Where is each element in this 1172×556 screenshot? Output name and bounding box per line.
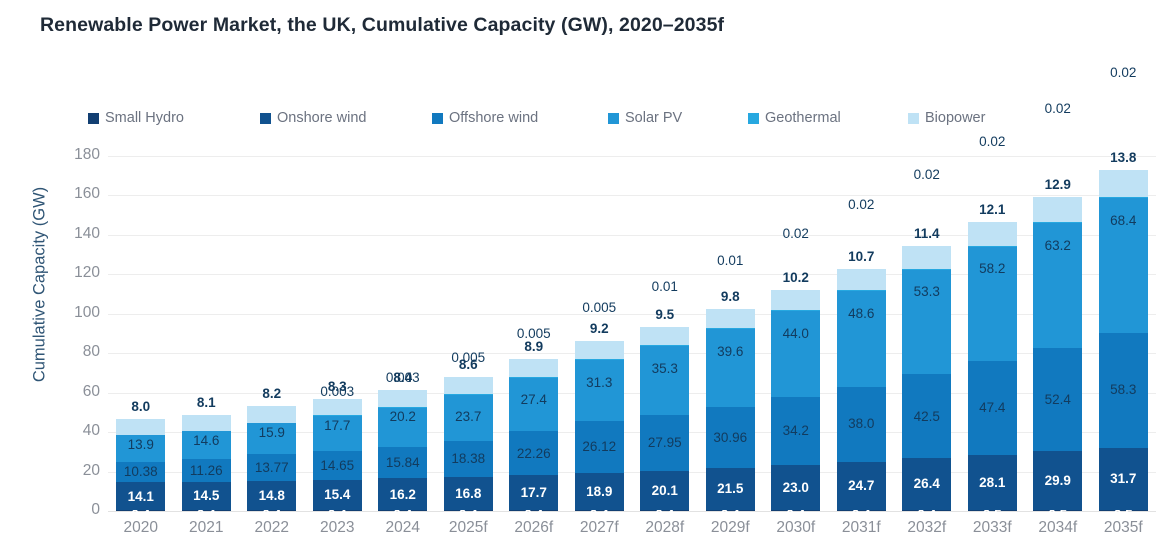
bar-segment-onshore-wind[interactable]: 20.1	[640, 471, 689, 511]
bar-segment-onshore-wind[interactable]: 14.8	[247, 481, 296, 510]
bar-segment-offshore-wind[interactable]: 42.5	[902, 374, 951, 458]
plot-area: 020406080100120140160180 0.414.110.3813.…	[108, 156, 1156, 511]
bar-value-label: 24.7	[848, 479, 874, 493]
bar-value-label: 15.4	[324, 488, 350, 502]
x-axis-labels: 202020212022202320242025f2026f2027f2028f…	[108, 519, 1156, 537]
bar-value-label: 20.2	[390, 410, 416, 424]
y-axis-tick-label: 60	[54, 383, 100, 401]
bar-value-label: 30.96	[713, 431, 747, 445]
bar-stack: 0.416.215.8420.20.0038.4	[378, 390, 427, 511]
legend-item-label: Solar PV	[625, 110, 682, 126]
bar-segment-small-hydro[interactable]: 0.4	[116, 510, 165, 511]
bar-segment-small-hydro[interactable]: 0.4	[771, 510, 820, 511]
bar-segment-geothermal[interactable]: 0.005	[575, 359, 624, 360]
bar-segment-small-hydro[interactable]: 0.5	[1033, 510, 1082, 511]
bar-value-label: 42.5	[914, 410, 940, 424]
bar-segment-solar-pv[interactable]: 63.2	[1033, 223, 1082, 348]
bar-value-label: 9.8	[721, 290, 740, 304]
bar-value-label: 27.4	[521, 393, 547, 407]
bar-segment-solar-pv[interactable]: 53.3	[902, 269, 951, 374]
x-axis-tick-label: 2028f	[632, 519, 698, 537]
legend-item-biopower[interactable]: Biopower	[908, 110, 985, 126]
bar-value-label: 9.2	[590, 322, 609, 336]
legend-item-onshore-wind[interactable]: Onshore wind	[260, 110, 366, 126]
bar-value-label: 21.5	[717, 482, 743, 496]
x-axis-tick-label: 2027f	[567, 519, 633, 537]
bar-segment-offshore-wind[interactable]: 26.12	[575, 421, 624, 473]
bar-segment-onshore-wind[interactable]: 16.8	[444, 477, 493, 510]
bar-value-label: 58.2	[979, 262, 1005, 276]
bar-value-label: 58.3	[1110, 383, 1136, 397]
bar-stack: 0.528.147.458.20.0212.1	[968, 222, 1017, 511]
bar-segment-offshore-wind[interactable]: 47.4	[968, 361, 1017, 454]
x-axis-tick-label: 2023	[305, 519, 371, 537]
bar-segment-geothermal[interactable]: 0.02	[837, 290, 886, 291]
bar-segment-small-hydro[interactable]: 0.4	[837, 510, 886, 511]
bar-value-label: 0.02	[848, 198, 874, 212]
bar-value-label: 10.2	[783, 271, 809, 285]
bar-segment-onshore-wind[interactable]: 29.9	[1033, 451, 1082, 510]
bar-value-label: 14.1	[128, 490, 154, 504]
bar-stack: 0.415.414.6517.70.0038.3	[313, 399, 362, 511]
bar-segment-offshore-wind[interactable]: 15.84	[378, 447, 427, 478]
legend-swatch-icon	[608, 113, 619, 124]
x-axis-tick-label: 2025f	[436, 519, 502, 537]
bar-segment-geothermal[interactable]: 0.02	[1033, 222, 1082, 223]
bar-stack: 0.421.530.9639.60.019.8	[706, 309, 755, 511]
bar-segment-onshore-wind[interactable]: 31.7	[1099, 448, 1148, 511]
bar-segment-biopower[interactable]: 8.6	[444, 377, 493, 394]
bar-value-label: 14.8	[259, 489, 285, 503]
x-axis-tick-label: 2021	[174, 519, 240, 537]
bar-segment-biopower[interactable]: 8.3	[313, 399, 362, 415]
bar-segment-solar-pv[interactable]: 39.6	[706, 329, 755, 407]
bar-segment-geothermal[interactable]: 0.01	[640, 345, 689, 346]
y-axis-tick-label: 180	[54, 146, 100, 164]
bar-segment-small-hydro[interactable]: 0.5	[968, 510, 1017, 511]
bar-value-label: 0.02	[783, 227, 809, 241]
bar-segment-onshore-wind[interactable]: 28.1	[968, 455, 1017, 510]
bar-segment-solar-pv[interactable]: 23.7	[444, 394, 493, 441]
bar-stack: 0.417.722.2627.40.0058.9	[509, 359, 558, 511]
bar-segment-offshore-wind[interactable]: 18.38	[444, 441, 493, 477]
y-axis-title: Cumulative Capacity (GW)	[31, 135, 50, 435]
bar-value-label: 13.8	[1110, 151, 1136, 165]
bar-segment-offshore-wind[interactable]: 34.2	[771, 397, 820, 464]
bar-value-label: 17.7	[324, 419, 350, 433]
bar-segment-biopower[interactable]: 8.9	[509, 359, 558, 377]
bar-value-label: 52.4	[1045, 393, 1071, 407]
bar-value-label: 0.01	[717, 254, 743, 268]
bar-segment-solar-pv[interactable]: 14.6	[182, 431, 231, 460]
x-axis-tick-label: 2031f	[829, 519, 895, 537]
bar-column[interactable]: 0.529.952.463.20.0212.9	[1025, 156, 1091, 511]
bar-segment-solar-pv[interactable]: 68.4	[1099, 198, 1148, 333]
bar-segment-solar-pv[interactable]: 27.4	[509, 377, 558, 431]
chart-legend: Small HydroOnshore windOffshore windSola…	[88, 106, 1088, 130]
y-axis-tick-label: 80	[54, 343, 100, 361]
bar-stack: 0.423.034.244.00.0210.2	[771, 290, 820, 511]
bar-segment-offshore-wind[interactable]: 30.96	[706, 407, 755, 468]
bar-series-group: 0.414.110.3813.98.00.414.511.2614.68.10.…	[108, 156, 1156, 511]
bar-value-label: 29.9	[1045, 474, 1071, 488]
bar-value-label: 8.9	[524, 340, 543, 354]
bar-segment-solar-pv[interactable]: 20.2	[378, 407, 427, 447]
bar-value-label: 39.6	[717, 345, 743, 359]
bar-segment-small-hydro[interactable]: 0.4	[509, 510, 558, 511]
bar-value-label: 9.5	[655, 308, 674, 322]
bar-value-label: 53.3	[914, 285, 940, 299]
bar-value-label: 20.1	[652, 484, 678, 498]
bar-value-label: 12.1	[979, 203, 1005, 217]
x-axis-tick-label: 2020	[108, 519, 174, 537]
bar-value-label: 11.4	[914, 227, 940, 241]
bar-column[interactable]: 0.414.110.3813.98.0	[108, 156, 174, 511]
bar-segment-onshore-wind[interactable]: 23.0	[771, 465, 820, 510]
bar-value-label: 14.65	[320, 459, 354, 473]
bar-segment-geothermal[interactable]: 0.02	[968, 246, 1017, 247]
legend-item-label: Onshore wind	[277, 110, 366, 126]
bar-segment-offshore-wind[interactable]: 13.77	[247, 454, 296, 481]
bar-segment-biopower[interactable]: 8.0	[116, 419, 165, 435]
bar-segment-onshore-wind[interactable]: 15.4	[313, 480, 362, 510]
x-axis-tick-label: 2035f	[1091, 519, 1157, 537]
bar-value-label: 27.95	[648, 436, 682, 450]
bar-segment-solar-pv[interactable]: 44.0	[771, 311, 820, 398]
y-axis-tick-label: 120	[54, 264, 100, 282]
bar-value-label: 68.4	[1110, 214, 1136, 228]
y-axis-tick-label: 160	[54, 185, 100, 203]
y-axis-tick-label: 140	[54, 225, 100, 243]
bar-column[interactable]: 0.415.414.6517.70.0038.3	[305, 156, 371, 511]
bar-value-label: 0.01	[652, 280, 678, 294]
bar-column[interactable]: 0.421.530.9639.60.019.8	[698, 156, 764, 511]
bar-value-label: 38.0	[848, 417, 874, 431]
legend-item-label: Small Hydro	[105, 110, 184, 126]
bar-stack: 0.418.926.1231.30.0059.2	[575, 341, 624, 511]
bar-column[interactable]: 0.426.442.553.30.0211.4	[894, 156, 960, 511]
bar-value-label: 15.9	[259, 426, 285, 440]
bar-value-label: 23.7	[455, 410, 481, 424]
bar-segment-small-hydro[interactable]: 0.4	[444, 510, 493, 511]
bar-segment-small-hydro[interactable]: 0.4	[640, 510, 689, 511]
bar-value-label: 8.6	[459, 358, 478, 372]
bar-segment-onshore-wind[interactable]: 14.1	[116, 482, 165, 510]
bar-value-label: 63.2	[1045, 239, 1071, 253]
bar-segment-solar-pv[interactable]: 58.2	[968, 246, 1017, 361]
bar-value-label: 0.005	[582, 301, 616, 315]
legend-swatch-icon	[432, 113, 443, 124]
bar-column[interactable]: 0.416.818.3823.70.0058.6	[436, 156, 502, 511]
bar-segment-biopower[interactable]: 9.2	[575, 341, 624, 359]
bar-value-label: 12.9	[1045, 178, 1071, 192]
bar-column[interactable]: 0.531.758.368.40.0213.8	[1091, 156, 1157, 511]
x-axis-tick-label: 2033f	[960, 519, 1026, 537]
bar-value-label: 23.0	[783, 481, 809, 495]
bar-segment-solar-pv[interactable]: 31.3	[575, 360, 624, 422]
bar-segment-small-hydro[interactable]: 0.5	[1099, 510, 1148, 511]
bar-segment-onshore-wind[interactable]: 24.7	[837, 462, 886, 511]
bar-value-label: 10.7	[848, 250, 874, 264]
legend-item-label: Biopower	[925, 110, 985, 126]
bar-value-label: 8.2	[262, 387, 281, 401]
bar-value-label: 10.38	[124, 465, 158, 479]
bar-value-label: 17.7	[521, 486, 547, 500]
bar-value-label: 18.9	[586, 485, 612, 499]
bar-segment-geothermal[interactable]: 0.02	[902, 269, 951, 270]
x-axis-tick-label: 2032f	[894, 519, 960, 537]
bar-stack: 0.414.813.7715.98.2	[247, 406, 296, 511]
bar-segment-onshore-wind[interactable]: 21.5	[706, 468, 755, 510]
bar-value-label: 16.2	[390, 488, 416, 502]
bar-column[interactable]: 0.424.738.048.60.0210.7	[829, 156, 895, 511]
y-axis-tick-label: 20	[54, 462, 100, 480]
bar-stack: 0.426.442.553.30.0211.4	[902, 246, 951, 511]
bar-segment-geothermal[interactable]: 0.02	[1099, 197, 1148, 198]
bar-stack: 0.416.818.3823.70.0058.6	[444, 377, 493, 511]
bar-segment-biopower[interactable]: 11.4	[902, 246, 951, 268]
bar-stack: 0.420.127.9535.30.019.5	[640, 327, 689, 511]
bar-segment-offshore-wind[interactable]: 11.26	[182, 459, 231, 481]
bar-stack: 0.531.758.368.40.0213.8	[1099, 170, 1148, 511]
bar-segment-solar-pv[interactable]: 13.9	[116, 435, 165, 462]
bar-value-label: 18.38	[451, 452, 485, 466]
bar-segment-onshore-wind[interactable]: 17.7	[509, 475, 558, 510]
bar-value-label: 0.02	[914, 168, 940, 182]
bar-segment-geothermal[interactable]: 0.01	[706, 328, 755, 329]
bar-segment-onshore-wind[interactable]: 18.9	[575, 473, 624, 510]
bar-segment-biopower[interactable]: 8.2	[247, 406, 296, 422]
bar-segment-small-hydro[interactable]: 0.4	[182, 510, 231, 511]
y-axis-tick-label: 40	[54, 422, 100, 440]
bar-segment-biopower[interactable]: 8.1	[182, 415, 231, 431]
bar-segment-geothermal[interactable]: 0.003	[378, 407, 427, 408]
bar-value-label: 26.4	[914, 477, 940, 491]
bar-value-label: 22.26	[517, 447, 551, 461]
bar-segment-small-hydro[interactable]: 0.4	[378, 510, 427, 511]
x-axis-tick-label: 2034f	[1025, 519, 1091, 537]
bar-column[interactable]: 0.416.215.8420.20.0038.4	[370, 156, 436, 511]
bar-value-label: 13.77	[255, 461, 289, 475]
bar-segment-offshore-wind[interactable]: 58.3	[1099, 333, 1148, 448]
x-axis-tick-label: 2029f	[698, 519, 764, 537]
bar-segment-small-hydro[interactable]: 0.4	[313, 510, 362, 511]
bar-segment-biopower[interactable]: 8.4	[378, 390, 427, 407]
bar-value-label: 15.84	[386, 456, 420, 470]
bar-segment-biopower[interactable]: 10.2	[771, 290, 820, 310]
bar-segment-geothermal[interactable]: 0.003	[313, 415, 362, 416]
bar-column[interactable]: 0.418.926.1231.30.0059.2	[567, 156, 633, 511]
chart-container: Renewable Power Market, the UK, Cumulati…	[0, 0, 1172, 556]
bar-segment-small-hydro[interactable]: 0.4	[706, 510, 755, 511]
bar-value-label: 0.02	[1045, 102, 1071, 116]
bar-segment-offshore-wind[interactable]: 14.65	[313, 451, 362, 480]
x-axis-tick-label: 2030f	[763, 519, 829, 537]
x-axis-tick-label: 2024	[370, 519, 436, 537]
bar-segment-offshore-wind[interactable]: 52.4	[1033, 348, 1082, 451]
bar-value-label: 8.1	[197, 396, 216, 410]
legend-swatch-icon	[88, 113, 99, 124]
bar-column[interactable]: 0.417.722.2627.40.0058.9	[501, 156, 567, 511]
bar-segment-offshore-wind[interactable]: 22.26	[509, 431, 558, 475]
bar-value-label: 14.6	[193, 434, 219, 448]
bar-value-label: 26.12	[582, 440, 616, 454]
bar-value-label: 34.2	[783, 424, 809, 438]
bar-segment-offshore-wind[interactable]: 27.95	[640, 415, 689, 470]
bar-segment-biopower[interactable]: 9.5	[640, 327, 689, 346]
bar-value-label: 35.3	[652, 362, 678, 376]
bar-value-label: 8.0	[131, 400, 150, 414]
legend-swatch-icon	[748, 113, 759, 124]
bar-value-label: 8.3	[328, 380, 347, 394]
bar-value-label: 11.26	[190, 464, 223, 478]
bar-segment-small-hydro[interactable]: 0.4	[247, 510, 296, 511]
bar-stack: 0.414.110.3813.98.0	[116, 419, 165, 511]
bar-value-label: 13.9	[128, 438, 154, 452]
bar-segment-offshore-wind[interactable]: 38.0	[837, 387, 886, 462]
bar-column[interactable]: 0.414.813.7715.98.2	[239, 156, 305, 511]
bar-value-label: 31.3	[586, 376, 612, 390]
y-axis-tick-label: 0	[54, 501, 100, 519]
bar-value-label: 0.02	[1110, 66, 1136, 80]
bar-segment-biopower[interactable]: 9.8	[706, 309, 755, 328]
bar-segment-biopower[interactable]: 13.8	[1099, 170, 1148, 197]
bar-segment-solar-pv[interactable]: 35.3	[640, 346, 689, 416]
bar-column[interactable]: 0.528.147.458.20.0212.1	[960, 156, 1026, 511]
x-axis-tick-label: 2026f	[501, 519, 567, 537]
bar-value-label: 44.0	[783, 327, 809, 341]
x-axis-tick-label: 2022	[239, 519, 305, 537]
bar-value-label: 0.005	[517, 327, 551, 341]
bar-segment-biopower[interactable]: 12.9	[1033, 197, 1082, 222]
bar-stack: 0.529.952.463.20.0212.9	[1033, 197, 1082, 511]
bar-segment-solar-pv[interactable]: 17.7	[313, 416, 362, 451]
bar-segment-biopower[interactable]: 12.1	[968, 222, 1017, 246]
bar-column[interactable]: 0.414.511.2614.68.1	[174, 156, 240, 511]
chart-title: Renewable Power Market, the UK, Cumulati…	[40, 14, 724, 37]
legend-swatch-icon	[908, 113, 919, 124]
legend-item-label: Offshore wind	[449, 110, 538, 126]
y-axis-tick-label: 100	[54, 304, 100, 322]
legend-swatch-icon	[260, 113, 271, 124]
bar-column[interactable]: 0.420.127.9535.30.019.5	[632, 156, 698, 511]
bar-value-label: 8.4	[393, 371, 412, 385]
bar-segment-geothermal[interactable]: 0.02	[771, 310, 820, 311]
legend-item-geothermal[interactable]: Geothermal	[748, 110, 841, 126]
bar-segment-onshore-wind[interactable]: 16.2	[378, 478, 427, 510]
bar-value-label: 0.02	[979, 135, 1005, 149]
legend-item-solar-pv[interactable]: Solar PV	[608, 110, 682, 126]
bar-segment-onshore-wind[interactable]: 14.5	[182, 482, 231, 511]
bar-value-label: 28.1	[979, 476, 1005, 490]
bar-stack: 0.424.738.048.60.0210.7	[837, 269, 886, 511]
legend-item-offshore-wind[interactable]: Offshore wind	[432, 110, 538, 126]
bar-value-label: 31.7	[1110, 472, 1136, 486]
bar-segment-biopower[interactable]: 10.7	[837, 269, 886, 290]
bar-stack: 0.414.511.2614.68.1	[182, 415, 231, 511]
bar-segment-solar-pv[interactable]: 48.6	[837, 291, 886, 387]
bar-segment-small-hydro[interactable]: 0.4	[575, 510, 624, 511]
bar-segment-onshore-wind[interactable]: 26.4	[902, 458, 951, 510]
bar-segment-geothermal[interactable]: 0.005	[509, 377, 558, 378]
bar-segment-geothermal[interactable]: 0.005	[444, 394, 493, 395]
bar-value-label: 16.8	[455, 487, 481, 501]
bar-column[interactable]: 0.423.034.244.00.0210.2	[763, 156, 829, 511]
bar-segment-small-hydro[interactable]: 0.4	[902, 510, 951, 511]
bar-value-label: 48.6	[848, 307, 874, 321]
bar-value-label: 47.4	[979, 401, 1005, 415]
bar-segment-solar-pv[interactable]: 15.9	[247, 423, 296, 454]
bar-value-label: 14.5	[193, 489, 219, 503]
bar-segment-offshore-wind[interactable]: 10.38	[116, 462, 165, 482]
legend-item-small-hydro[interactable]: Small Hydro	[88, 110, 184, 126]
legend-item-label: Geothermal	[765, 110, 841, 126]
